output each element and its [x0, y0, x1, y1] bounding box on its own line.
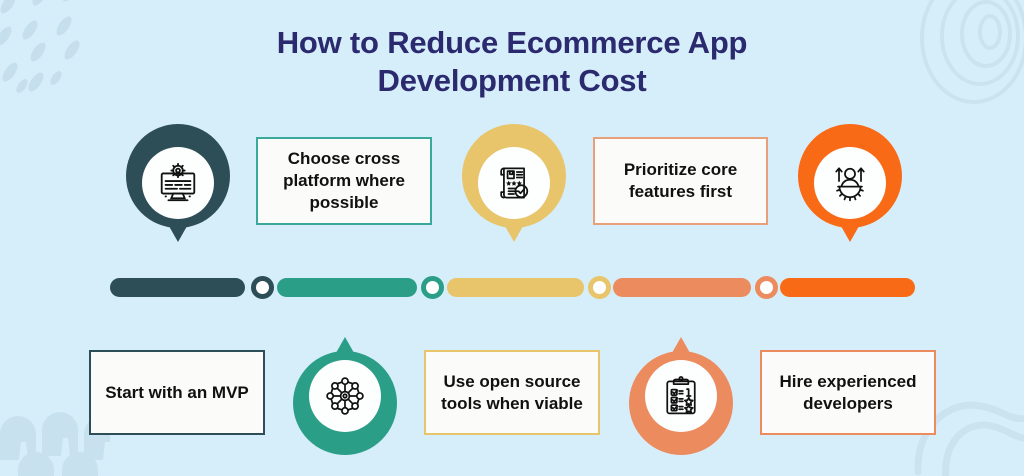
bar-segment	[780, 278, 915, 297]
page-title-line-2: Development Cost	[0, 62, 1024, 100]
marker-network-nodes[interactable]	[293, 337, 397, 455]
page-title-line-1: How to Reduce Ecommerce App	[0, 24, 1024, 62]
marker-document-stars[interactable]	[462, 124, 566, 242]
bar-segment	[277, 278, 417, 297]
tip-label: Use open source tools when viable	[436, 371, 588, 415]
bar-segment	[613, 278, 751, 297]
marker-person-gear-arrows[interactable]	[798, 124, 902, 242]
tip-box-start-with-mvp[interactable]: Start with an MVP	[89, 350, 265, 435]
monitor-gear-icon	[155, 160, 201, 206]
tip-label: Prioritize core features first	[605, 159, 756, 203]
bar-segment	[110, 278, 245, 297]
tip-label: Start with an MVP	[105, 382, 249, 404]
bar-dot[interactable]	[588, 276, 611, 299]
pin-inner	[309, 360, 381, 432]
tip-box-choose-cross-platform[interactable]: Choose cross platform where possible	[256, 137, 432, 225]
person-gear-arrows-icon	[828, 161, 872, 205]
marker-monitor-gear[interactable]	[126, 124, 230, 242]
tip-label: Hire experienced developers	[772, 371, 924, 415]
pin-inner	[645, 360, 717, 432]
pin-inner	[478, 147, 550, 219]
bar-dot[interactable]	[421, 276, 444, 299]
clipboard-checklist-icon	[659, 374, 703, 418]
document-stars-check-icon	[492, 161, 536, 205]
bar-dot[interactable]	[755, 276, 778, 299]
tip-box-use-open-source-tools[interactable]: Use open source tools when viable	[424, 350, 600, 435]
pin-inner	[814, 147, 886, 219]
tip-label: Choose cross platform where possible	[268, 148, 420, 213]
pin-inner	[142, 147, 214, 219]
network-nodes-icon	[322, 373, 368, 419]
tip-box-prioritize-core-features[interactable]: Prioritize core features first	[593, 137, 768, 225]
marker-clipboard-checklist[interactable]	[629, 337, 733, 455]
bar-segment	[447, 278, 584, 297]
bar-dot[interactable]	[251, 276, 274, 299]
tip-box-hire-experienced-developers[interactable]: Hire experienced developers	[760, 350, 936, 435]
infographic-canvas: How to Reduce Ecommerce App Development …	[0, 0, 1024, 476]
page-title: How to Reduce Ecommerce App Development …	[0, 24, 1024, 100]
